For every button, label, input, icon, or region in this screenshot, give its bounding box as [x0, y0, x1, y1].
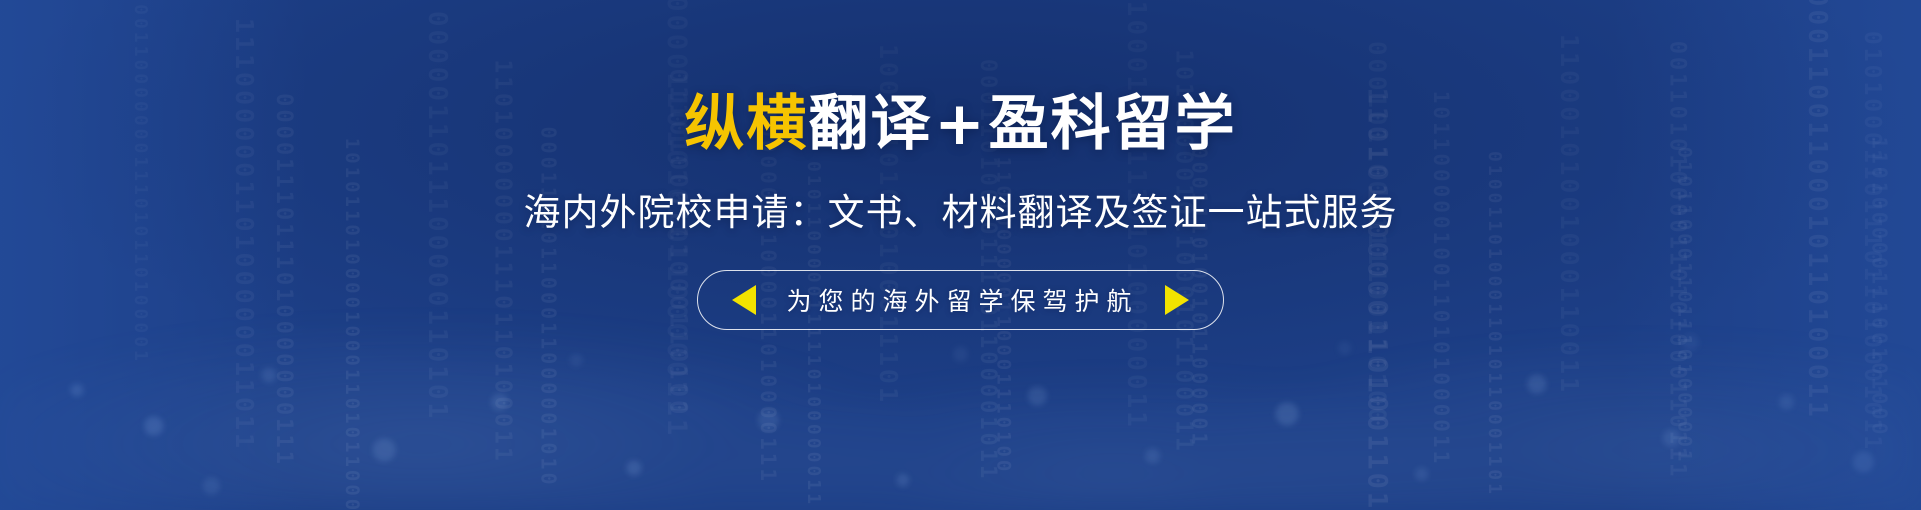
banner-headline: 纵横翻译+盈科留学 — [684, 92, 1236, 156]
banner-content: 纵横翻译+盈科留学 海内外院校申请：文书、材料翻译及签证一站式服务 为您的海外留… — [0, 0, 1921, 510]
headline-text-before-plus: 翻译 — [808, 90, 932, 157]
cta-button[interactable]: 为您的海外留学保驾护航 — [697, 270, 1223, 330]
triangle-right-icon — [1165, 285, 1189, 315]
headline-text-after-plus: 盈科留学 — [989, 90, 1237, 157]
headline-plus-symbol: + — [932, 89, 988, 159]
banner-subheadline: 海内外院校申请：文书、材料翻译及签证一站式服务 — [524, 182, 1398, 236]
promo-banner: 0011000000011101011010000111100000011010… — [0, 0, 1921, 510]
headline-accent-text: 纵横 — [684, 90, 808, 157]
triangle-left-icon — [732, 285, 756, 315]
cta-button-label: 为您的海外留学保驾护航 — [782, 282, 1138, 318]
